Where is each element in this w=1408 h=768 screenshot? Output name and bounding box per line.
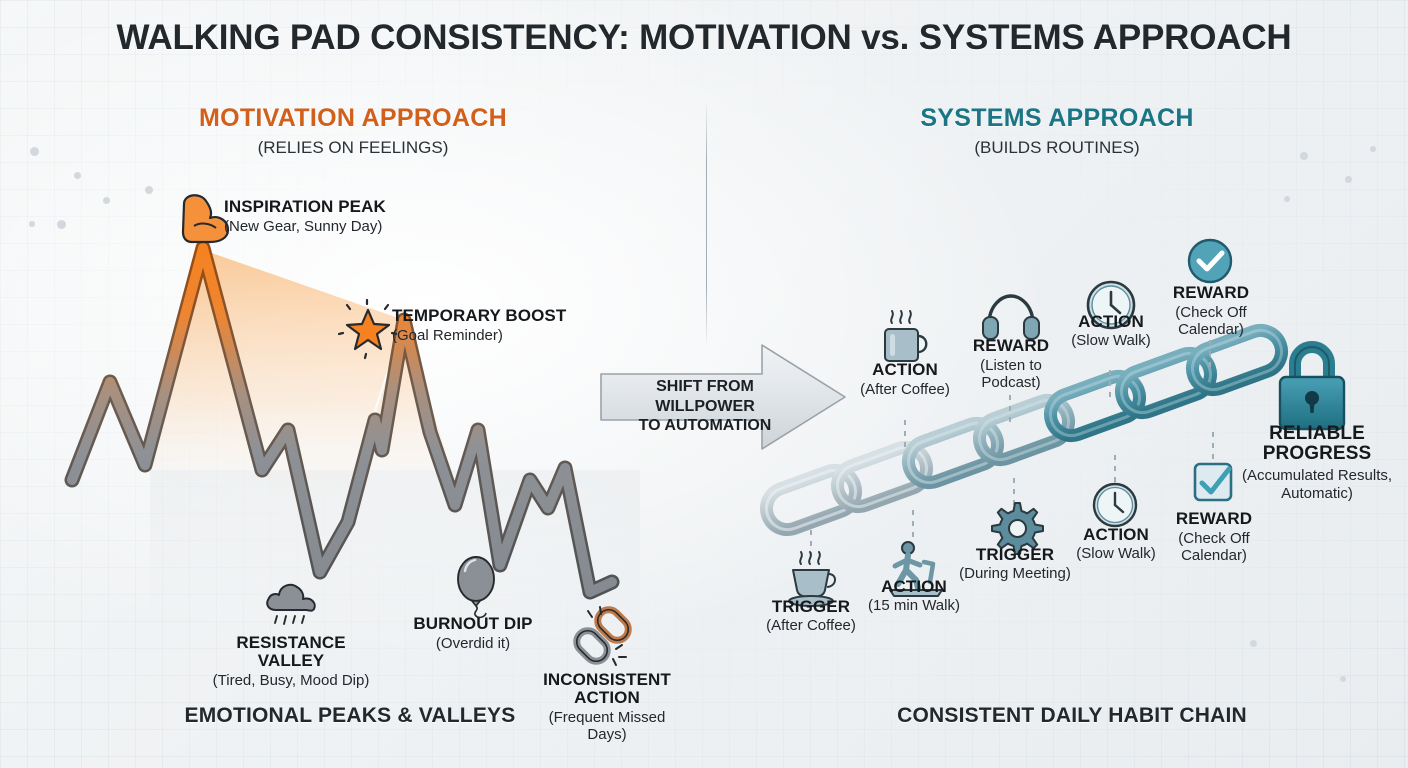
chain-node-title: ACTION [1056,313,1166,331]
chain-node-label-6: ACTION (Slow Walk) [1056,313,1166,350]
annotation-inconsistent-action: INCONSISTENT ACTION (Frequent Missed Day… [528,671,686,744]
annotation-detail: (New Gear, Sunny Day) [224,219,386,236]
annotation-title: RESISTANCE VALLEY [208,634,374,670]
infographic-canvas: WALKING PAD CONSISTENCY: MOTIVATION vs. … [0,0,1408,768]
chain-node-label-4: REWARD (Listen to Podcast) [956,337,1066,392]
padlock-icon [1272,337,1352,437]
annotation-title: INSPIRATION PEAK [224,198,386,216]
chain-node-title: REWARD [956,337,1066,355]
check-circle-icon [1186,237,1234,285]
chain-node-title: REWARD [1158,510,1270,528]
outcome-title-line1: RELIABLE [1228,424,1406,444]
shift-arrow-line2: TO AUTOMATION [605,416,805,436]
star-burst-icon [340,300,396,356]
annotation-detail: (Tired, Busy, Mood Dip) [208,673,374,690]
outcome-title-line2: PROGRESS [1228,444,1406,464]
right-bottom-caption: CONSISTENT DAILY HABIT CHAIN [872,704,1272,728]
rain-cloud-icon [262,576,322,632]
annotation-detail: (Goal Reminder) [392,328,566,345]
chain-node-detail: (Check Off Calendar) [1158,530,1270,565]
left-bottom-caption: EMOTIONAL PEAKS & VALLEYS [180,704,520,728]
chain-node-label-8: REWARD (Check Off Calendar) [1155,284,1267,339]
outcome-detail-line1: (Accumulated Results, [1228,467,1406,484]
annotation-inspiration-peak: INSPIRATION PEAK (New Gear, Sunny Day) [224,198,386,236]
chain-node-detail: (Slow Walk) [1061,546,1171,563]
annotation-detail: (Overdid it) [398,636,548,653]
chain-node-detail: (After Coffee) [745,618,877,635]
shift-arrow-label: SHIFT FROM WILLPOWER TO AUTOMATION [605,377,805,436]
outcome-label: RELIABLE PROGRESS (Accumulated Results, … [1228,424,1406,502]
chain-node-detail: (15 min Walk) [851,598,977,615]
chain-node-detail: (During Meeting) [946,566,1084,583]
annotation-title: TEMPORARY BOOST [392,307,566,325]
annotation-burnout-dip: BURNOUT DIP (Overdid it) [398,615,548,653]
chain-node-detail: (Slow Walk) [1056,333,1166,350]
shift-arrow-line1: SHIFT FROM WILLPOWER [605,377,805,416]
annotation-title: INCONSISTENT ACTION [528,671,686,707]
annotation-resistance-valley: RESISTANCE VALLEY (Tired, Busy, Mood Dip… [208,634,374,690]
chain-node-title: REWARD [1155,284,1267,302]
chain-node-label-3: ACTION (15 min Walk) [851,578,977,615]
chain-node-label-9: REWARD (Check Off Calendar) [1158,510,1270,565]
annotation-temporary-boost: TEMPORARY BOOST (Goal Reminder) [392,307,566,345]
chain-node-title: ACTION [1061,526,1171,544]
annotation-detail: (Frequent Missed Days) [528,710,686,744]
chain-node-detail: (Check Off Calendar) [1155,304,1267,339]
chain-node-title: ACTION [856,361,954,379]
deflated-balloon-icon [453,555,501,619]
chain-node-detail: (After Coffee) [856,381,954,398]
chain-node-label-2: ACTION (After Coffee) [856,361,954,398]
chain-node-label-7: ACTION (Slow Walk) [1061,526,1171,563]
chain-node-detail: (Listen to Podcast) [956,357,1066,392]
outcome-detail-line2: Automatic) [1228,485,1406,502]
headphones-icon [980,290,1042,342]
annotation-title: BURNOUT DIP [398,615,548,633]
broken-chain-icon [575,605,639,669]
